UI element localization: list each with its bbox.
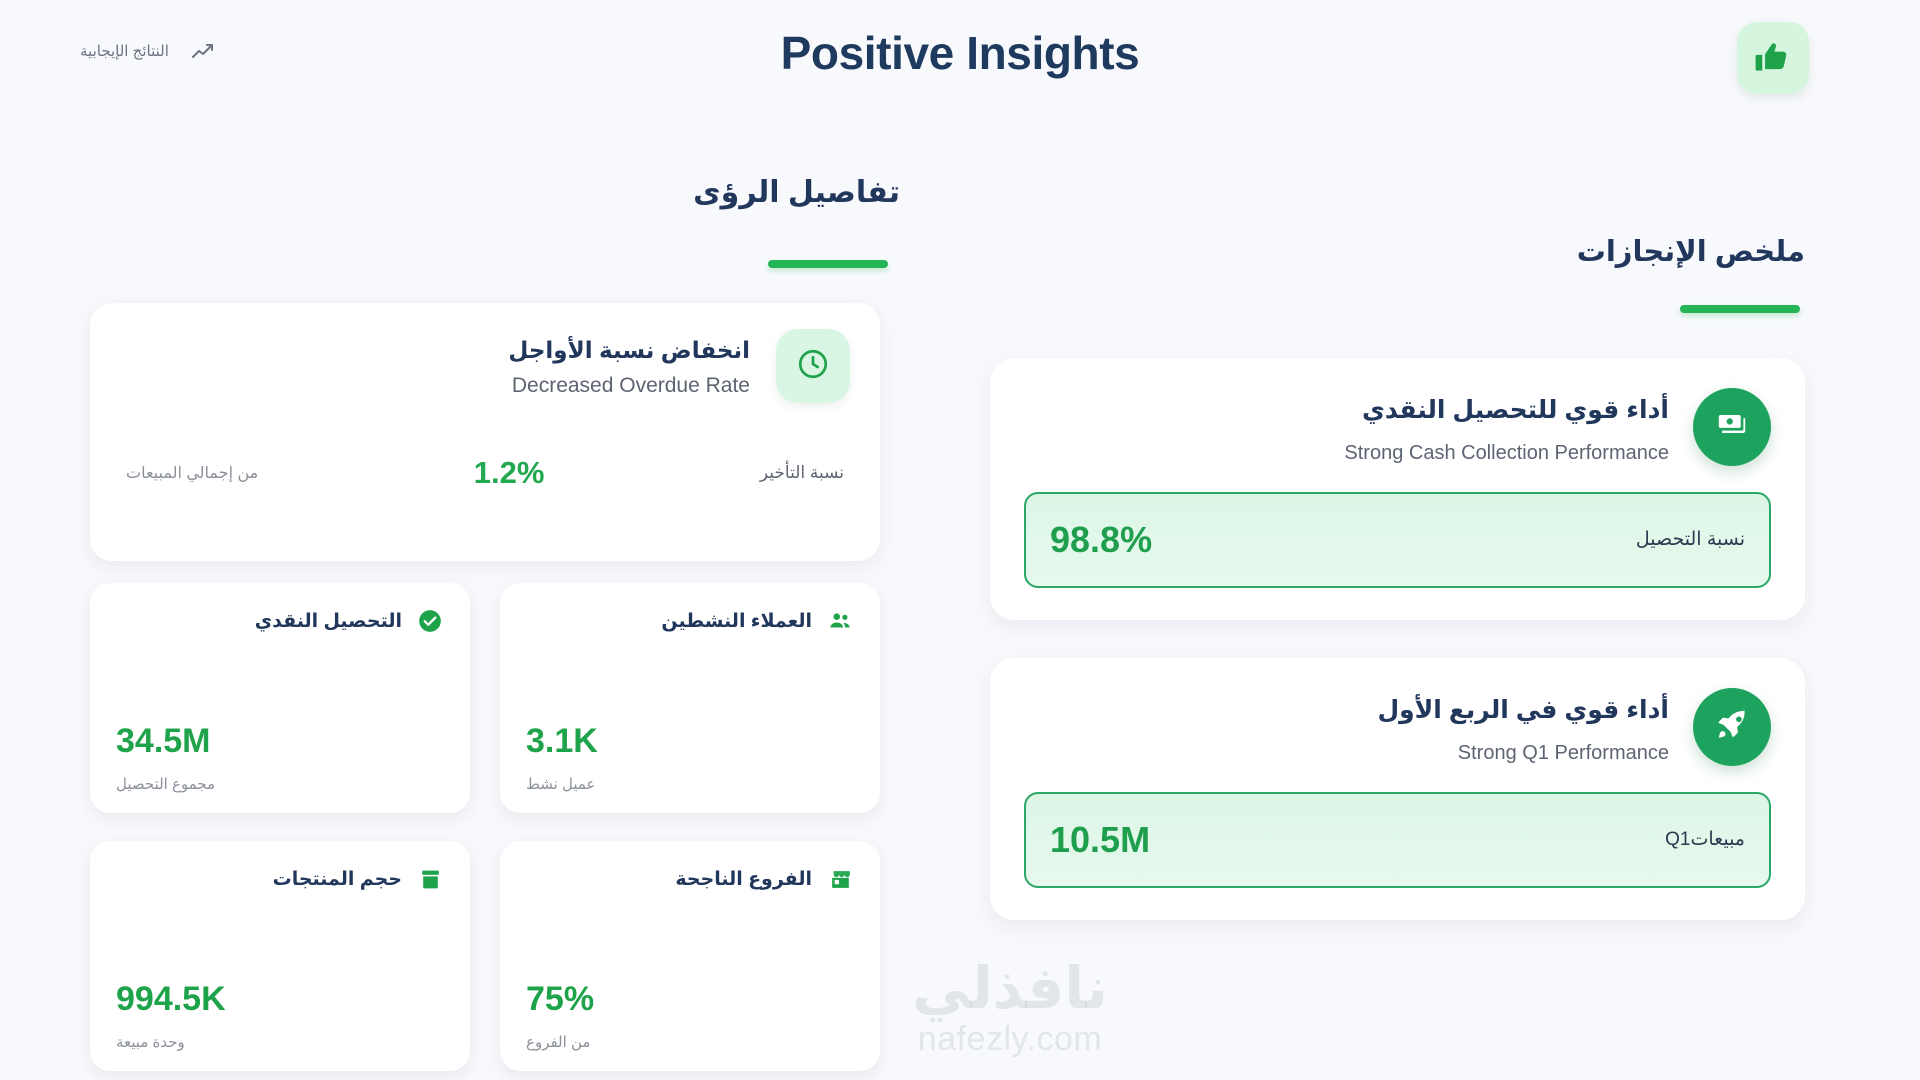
overdue-rate-card[interactable]: انخفاض نسبة الأواجل Decreased Overdue Ra…	[90, 303, 880, 561]
achievements-summary-column: ملخص الإنجازات أداء قوي للتحصيل النقدي	[975, 235, 1805, 920]
cash-highlight-title-ar: أداء قوي للتحصيل النقدي	[1024, 394, 1669, 427]
overdue-metric-label: نسبة التأخير	[760, 463, 844, 483]
check-circle-icon	[416, 607, 444, 635]
q1-highlight-title-en: Strong Q1 Performance	[1024, 742, 1669, 765]
cash-collection-body: 34.5M مجموع التحصيل	[116, 716, 444, 793]
overdue-card-header: انخفاض نسبة الأواجل Decreased Overdue Ra…	[120, 329, 850, 403]
insights-details-column: تفاصيل الرؤى انخفاض نسبة الأواجل Decreas…	[90, 175, 900, 211]
overdue-card-metrics: نسبة التأخير 1.2% من إجمالي المبيعات	[120, 455, 850, 491]
product-volume-value: 994.5K	[116, 980, 226, 1019]
thumbs-up-button[interactable]	[1737, 22, 1809, 94]
cash-collection-header: التحصيل النقدي	[116, 607, 444, 635]
page-title: Positive Insights	[0, 26, 1920, 80]
cash-highlight-title-en: Strong Cash Collection Performance	[1024, 442, 1669, 465]
successful-branches-card[interactable]: الفروع الناجحة 75% من الفروع	[500, 841, 880, 1071]
watermark-arabic: نافذلي	[845, 960, 1175, 1018]
section-title-insights: تفاصيل الرؤى	[90, 175, 900, 211]
insights-dashboard: النتائج الإيجابية Positive Insights تفاص…	[0, 0, 1920, 1080]
rocket-icon	[1714, 706, 1750, 747]
clock-icon	[796, 347, 830, 386]
payments-icon-badge	[1693, 388, 1771, 466]
product-volume-card[interactable]: حجم المنتجات 994.5K وحدة مبيعة	[90, 841, 470, 1071]
product-volume-sub: وحدة مبيعة	[116, 1033, 185, 1051]
cash-highlight-metric-box: نسبة التحصيل 98.8%	[1024, 492, 1771, 588]
payments-icon	[1714, 406, 1750, 447]
overdue-title-en: Decreased Overdue Rate	[120, 374, 750, 398]
product-volume-title: حجم المنتجات	[116, 868, 402, 891]
store-icon	[826, 865, 854, 893]
product-volume-header: حجم المنتجات	[116, 865, 444, 893]
section-accent-bar-left	[768, 260, 888, 268]
cash-collection-highlight-texts: أداء قوي للتحصيل النقدي Strong Cash Coll…	[1024, 388, 1669, 466]
successful-branches-header: الفروع الناجحة	[526, 865, 854, 893]
people-icon	[826, 607, 854, 635]
cash-collection-value: 34.5M	[116, 722, 211, 761]
successful-branches-body: 75% من الفروع	[526, 974, 854, 1051]
active-customers-body: 3.1K عميل نشط	[526, 716, 854, 793]
q1-highlight-metric-value: 10.5M	[1050, 819, 1150, 861]
cash-collection-title: التحصيل النقدي	[116, 610, 402, 633]
cash-collection-card[interactable]: التحصيل النقدي 34.5M مجموع التحصيل	[90, 583, 470, 813]
overdue-metric-value: 1.2%	[474, 455, 545, 491]
active-customers-card[interactable]: العملاء النشطين 3.1K عميل نشط	[500, 583, 880, 813]
cash-highlight-metric-value: 98.8%	[1050, 519, 1152, 561]
clock-icon-badge	[776, 329, 850, 403]
q1-highlight-texts: أداء قوي في الربع الأول Strong Q1 Perfor…	[1024, 688, 1669, 766]
q1-highlight-metric-label: مبيعاتQ1	[1665, 828, 1745, 851]
q1-performance-highlight-card[interactable]: أداء قوي في الربع الأول Strong Q1 Perfor…	[990, 658, 1805, 920]
active-customers-value: 3.1K	[526, 722, 598, 761]
q1-highlight-title-ar: أداء قوي في الربع الأول	[1024, 694, 1669, 727]
section-accent-bar-right	[1680, 305, 1800, 313]
watermark: نافذلي nafezly.com	[845, 960, 1175, 1059]
successful-branches-title: الفروع الناجحة	[526, 868, 812, 891]
active-customers-title: العملاء النشطين	[526, 610, 812, 633]
product-volume-body: 994.5K وحدة مبيعة	[116, 974, 444, 1051]
overdue-title-ar: انخفاض نسبة الأواجل	[120, 335, 750, 366]
top-bar: النتائج الإيجابية Positive Insights	[0, 0, 1920, 130]
rocket-icon-badge	[1693, 688, 1771, 766]
watermark-domain: nafezly.com	[845, 1020, 1175, 1059]
section-title-achievements: ملخص الإنجازات	[975, 235, 1805, 270]
active-customers-sub: عميل نشط	[526, 775, 595, 793]
cash-collection-highlight-card[interactable]: أداء قوي للتحصيل النقدي Strong Cash Coll…	[990, 358, 1805, 620]
inventory-box-icon	[416, 865, 444, 893]
thumbs-up-icon	[1754, 39, 1792, 77]
cash-highlight-metric-label: نسبة التحصيل	[1636, 528, 1745, 551]
overdue-metric-sub: من إجمالي المبيعات	[126, 463, 258, 483]
cash-collection-sub: مجموع التحصيل	[116, 775, 215, 793]
successful-branches-sub: من الفروع	[526, 1033, 590, 1051]
q1-highlight-metric-box: مبيعاتQ1 10.5M	[1024, 792, 1771, 888]
successful-branches-value: 75%	[526, 980, 594, 1019]
overdue-card-texts: انخفاض نسبة الأواجل Decreased Overdue Ra…	[120, 329, 750, 398]
active-customers-header: العملاء النشطين	[526, 607, 854, 635]
q1-highlight-header: أداء قوي في الربع الأول Strong Q1 Perfor…	[1024, 688, 1771, 766]
mini-stat-grid: العملاء النشطين 3.1K عميل نشط التحصيل ال…	[90, 583, 880, 1071]
cash-collection-highlight-header: أداء قوي للتحصيل النقدي Strong Cash Coll…	[1024, 388, 1771, 466]
